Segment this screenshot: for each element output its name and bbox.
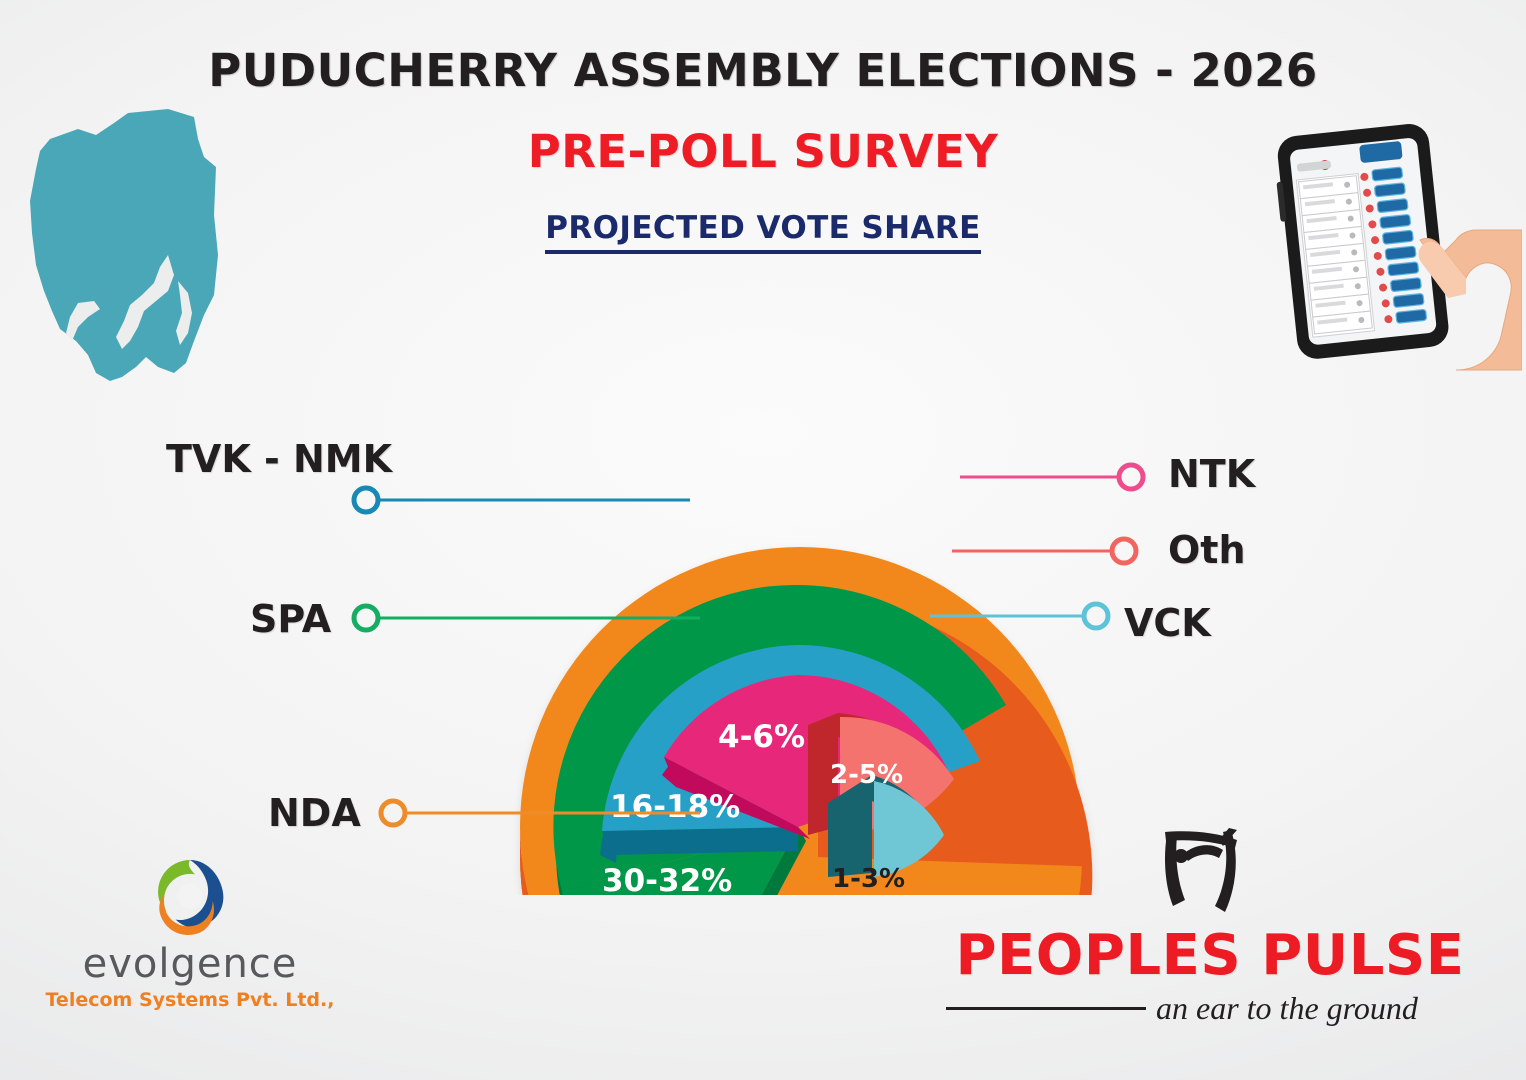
peoples-pulse-figure-icon	[1145, 828, 1255, 928]
evolgence-logo: evolgence Telecom Systems Pvt. Ltd.,	[40, 855, 340, 1011]
section-title: PROJECTED VOTE SHARE	[545, 210, 980, 254]
peoples-pulse-tagline-row: an ear to the ground	[930, 990, 1490, 1027]
callout-label-spa: SPA	[250, 597, 331, 641]
callout-label-vck: VCK	[1124, 601, 1211, 645]
callout-label-nda: NDA	[268, 791, 361, 835]
evolgence-name: evolgence	[40, 941, 340, 987]
peoples-pulse-tagline: an ear to the ground	[1156, 990, 1418, 1027]
callout-dot-tvk[interactable]	[354, 488, 378, 512]
tagline-rule	[946, 1007, 1146, 1010]
infographic-canvas: PUDUCHERRY ASSEMBLY ELECTIONS - 2026 PRE…	[0, 0, 1526, 1080]
vote-share-pie-chart: 4-6% 16-18% 30-32% 34-36% 2-5% 1-3%	[420, 255, 1120, 895]
callout-dot-spa[interactable]	[354, 606, 378, 630]
slice-label-ntk: 4-6%	[718, 719, 805, 755]
slice-label-tvk: 16-18%	[610, 789, 740, 825]
callout-dot-ntk[interactable]	[1119, 465, 1143, 489]
slice-label-spa: 30-32%	[602, 863, 732, 895]
slice-label-oth: 2-5%	[830, 760, 903, 790]
callout-label-tvk: TVK - NMK	[166, 437, 392, 481]
callout-label-oth: Oth	[1168, 528, 1246, 572]
puducherry-map-icon	[18, 105, 228, 395]
evolgence-tagline: Telecom Systems Pvt. Ltd.,	[40, 989, 340, 1011]
peoples-pulse-logo: PEOPLES PULSE an ear to the ground	[930, 828, 1490, 1027]
callout-label-ntk: NTK	[1168, 452, 1255, 496]
evolgence-swirl-icon	[148, 855, 232, 939]
page-title: PUDUCHERRY ASSEMBLY ELECTIONS - 2026	[0, 44, 1526, 97]
slice-label-vck: 1-3%	[832, 864, 905, 894]
peoples-pulse-name: PEOPLES PULSE	[930, 928, 1490, 984]
evm-voting-machine-icon	[1270, 118, 1522, 378]
callout-dot-nda[interactable]	[381, 801, 405, 825]
